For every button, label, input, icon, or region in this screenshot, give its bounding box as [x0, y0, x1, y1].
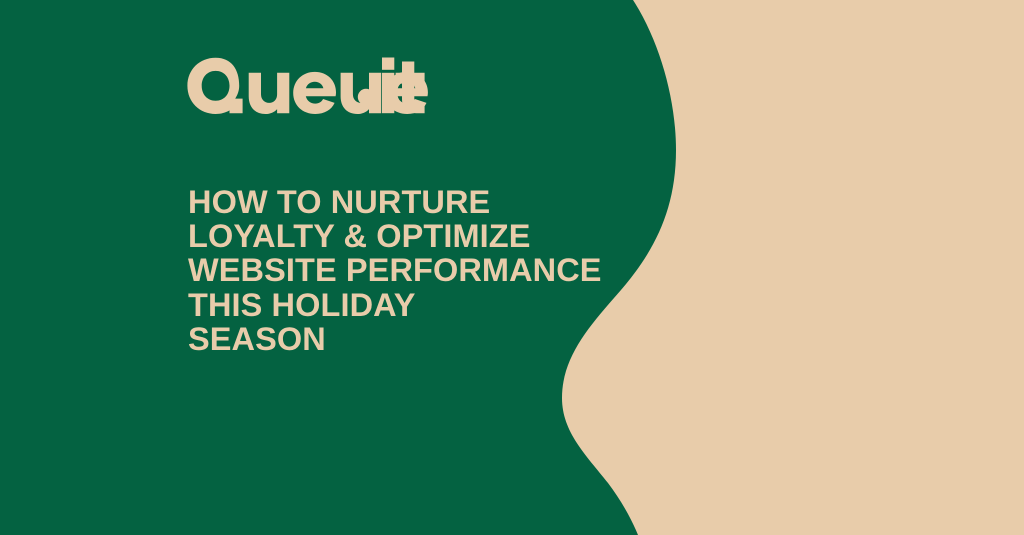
logo-letter-i-dot — [382, 58, 394, 70]
logo-letter-u1 — [249, 73, 290, 114]
headline-line-3: WEBSITE PERFORMANCE — [188, 253, 658, 287]
headline-line-4: THIS HOLIDAY — [188, 288, 658, 322]
logo-separator-dot — [358, 89, 374, 105]
logo-suffix-glyphs — [358, 58, 425, 114]
promo-banner: Queue•it — [0, 0, 1024, 535]
logo-letter-e1 — [293, 72, 336, 114]
headline-line-2: LOYALTY & OPTIMIZE — [188, 219, 658, 253]
banner-content: Queue•it — [0, 0, 1024, 535]
logo-letter-q — [187, 58, 242, 114]
page-title: HOW TO NURTURE LOYALTY & OPTIMIZE WEBSIT… — [188, 185, 658, 356]
headline-line-1: HOW TO NURTURE — [188, 185, 658, 219]
queue-it-logo-suffix[interactable] — [356, 57, 428, 115]
logo-letter-t — [396, 62, 425, 114]
headline-line-5: SEASON — [188, 322, 658, 356]
logo-letter-i — [382, 73, 394, 113]
